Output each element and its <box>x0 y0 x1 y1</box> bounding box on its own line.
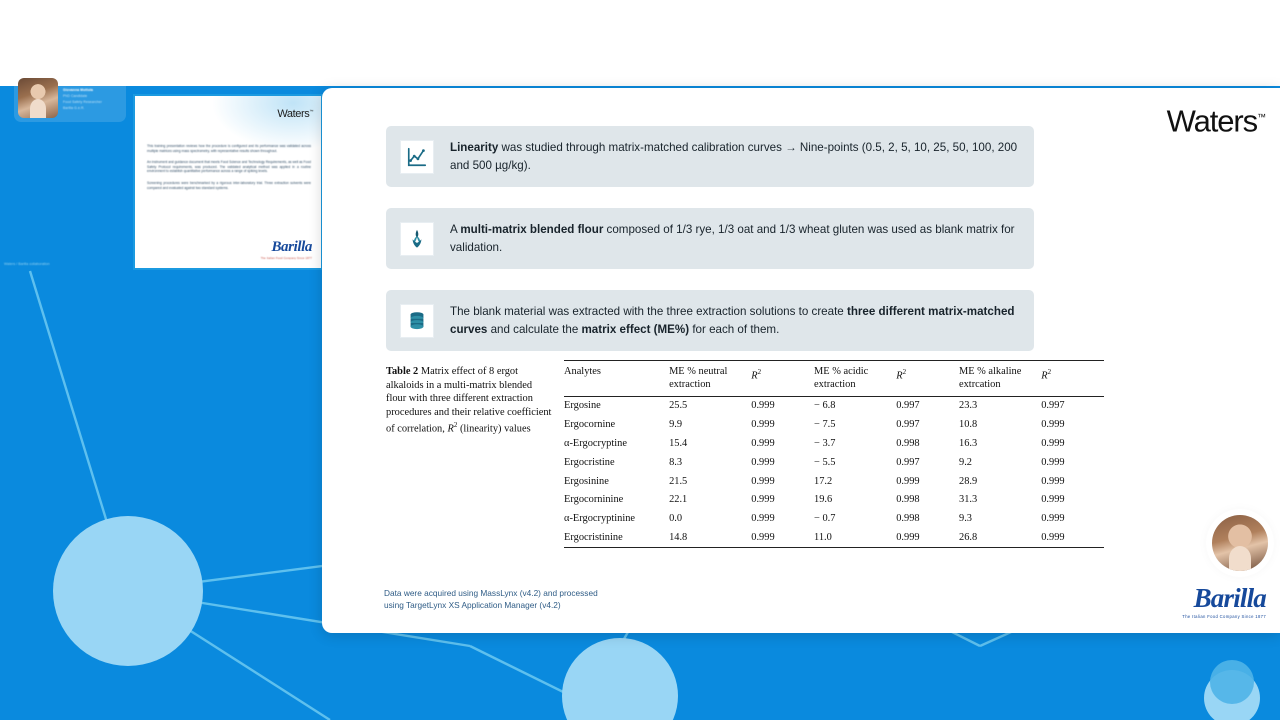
table-cell: α-Ergocryptinine <box>564 510 669 529</box>
table-header-cell: R2 <box>896 361 959 397</box>
table-row: Ergosinine21.50.99917.20.99928.90.999 <box>564 472 1104 491</box>
table-cell: 25.5 <box>669 397 751 416</box>
table-cell: 17.2 <box>814 472 896 491</box>
table-header-cell: R2 <box>751 361 814 397</box>
table-cell: − 7.5 <box>814 416 896 435</box>
table-cell: 0.999 <box>896 528 959 547</box>
table-cell: Ergocristinine <box>564 528 669 547</box>
bullet-item-matrix-effect: The blank material was extracted with th… <box>386 290 1034 351</box>
table-header-cell: ME % alkalineextrcation <box>959 361 1041 397</box>
barilla-logo-name: Barilla <box>1182 585 1266 612</box>
table-cell: 16.3 <box>959 435 1041 454</box>
barilla-logo: Barilla The Italian Food Company Since 1… <box>1182 585 1266 619</box>
table-cell: 0.997 <box>896 416 959 435</box>
table-cell: 31.3 <box>959 491 1041 510</box>
table-caption: Table 2 Matrix effect of 8 ergot alkaloi… <box>386 360 552 548</box>
bullet-text-plain: The blank material was extracted with th… <box>450 305 847 318</box>
line-chart-icon <box>400 140 434 174</box>
waters-logo-tm: ™ <box>1257 112 1266 122</box>
table-cell: 0.999 <box>896 472 959 491</box>
table-cell: 28.9 <box>959 472 1041 491</box>
slide-thumbnail[interactable]: Waters™ This training presentation revie… <box>133 94 323 270</box>
table-row: α-Ergocryptinine0.00.999− 0.70.9989.30.9… <box>564 510 1104 529</box>
bullet-text-plain: A <box>450 223 460 236</box>
table-cell: 0.999 <box>1041 510 1104 529</box>
table-cell: 14.8 <box>669 528 751 547</box>
table-cell: 19.6 <box>814 491 896 510</box>
webinar-screen: Giovanna Mottola PhD Candidate Food Safe… <box>0 0 1280 720</box>
table-cell: 8.3 <box>669 453 751 472</box>
table-row: Ergosine25.50.999− 6.80.99723.30.997 <box>564 397 1104 416</box>
thumbnail-paragraph-2: An instrument and guidance document that… <box>147 160 311 174</box>
presenter-meta: Giovanna Mottola PhD Candidate Food Safe… <box>63 86 102 110</box>
bullet-text-linearity: Linearity was studied through matrix-mat… <box>450 139 1020 174</box>
presenter-card[interactable]: Giovanna Mottola PhD Candidate Food Safe… <box>14 74 126 122</box>
table-cell: 0.998 <box>896 510 959 529</box>
table-cell: 0.998 <box>896 491 959 510</box>
thumbnail-body: This training presentation reviews how t… <box>147 144 311 197</box>
bullet-text-plain: was studied through matrix-matched calib… <box>450 141 1017 172</box>
table-cell: 0.999 <box>751 472 814 491</box>
bullet-text-emphasis: multi-matrix blended flour <box>460 223 603 236</box>
table-cell: 0.999 <box>751 510 814 529</box>
table-cell: 11.0 <box>814 528 896 547</box>
table-cell: 0.999 <box>1041 453 1104 472</box>
bullet-text-matrix-effect: The blank material was extracted with th… <box>450 303 1020 338</box>
table-cell: 0.999 <box>751 453 814 472</box>
table-header-row: AnalytesME % neutralextractionR2ME % aci… <box>564 361 1104 397</box>
presenter-role-1: PhD Candidate <box>63 94 102 98</box>
table-cell: 22.1 <box>669 491 751 510</box>
bullet-item-linearity: Linearity was studied through matrix-mat… <box>386 126 1034 187</box>
table-cell: Ergocornine <box>564 416 669 435</box>
main-slide-card: Waters™ Linearity was studied through ma… <box>322 88 1280 633</box>
thumbnail-paragraph-3: Screening procedures were benchmarked by… <box>147 181 311 190</box>
footnote-line-2: using TargetLynx XS Application Manager … <box>384 600 598 611</box>
thumbnail-waters-logo: Waters™ <box>277 108 313 120</box>
table-cell: 9.3 <box>959 510 1041 529</box>
table-cell: 9.2 <box>959 453 1041 472</box>
corner-note: Waters / Barilla collaboration <box>4 262 50 267</box>
table-header-cell: ME % acidicextraction <box>814 361 896 397</box>
thumbnail-barilla-name: Barilla <box>261 239 312 256</box>
table-row: Ergocristine8.30.999− 5.50.9979.20.999 <box>564 453 1104 472</box>
matrix-effect-table: AnalytesME % neutralextractionR2ME % aci… <box>564 360 1104 548</box>
table-header-cell: Analytes <box>564 361 669 397</box>
bullet-item-blended-flour: A multi-matrix blended flour composed of… <box>386 208 1034 269</box>
table-cell: 0.999 <box>751 416 814 435</box>
table-cell: 0.998 <box>896 435 959 454</box>
table-caption-r-exp: 2 <box>454 421 458 429</box>
table-body: Ergosine25.50.999− 6.80.99723.30.997Ergo… <box>564 397 1104 548</box>
table-row: Ergocristinine14.80.99911.00.99926.80.99… <box>564 528 1104 547</box>
footnote: Data were acquired using MassLynx (v4.2)… <box>384 588 598 611</box>
table-cell: − 3.7 <box>814 435 896 454</box>
waters-logo: Waters™ <box>1167 102 1266 136</box>
table-cell: 0.999 <box>1041 491 1104 510</box>
table-cell: Ergosinine <box>564 472 669 491</box>
presenter-role-2: Food Safety Researcher <box>63 100 102 104</box>
table-cell: − 0.7 <box>814 510 896 529</box>
waters-logo-name: Waters <box>1167 103 1257 138</box>
barilla-logo-tagline: The Italian Food Company Since 1877 <box>1182 614 1266 619</box>
bullet-list: Linearity was studied through matrix-mat… <box>386 126 1034 351</box>
presenter-name: Giovanna Mottola <box>63 88 102 92</box>
table-cell: 0.997 <box>896 453 959 472</box>
table-cell: − 5.5 <box>814 453 896 472</box>
bullet-text-plain: and calculate the <box>487 323 581 336</box>
table-header-cell: ME % neutralextraction <box>669 361 751 397</box>
table-cell: 0.999 <box>751 528 814 547</box>
presenter-role-3: Barilla G.e.R. <box>63 106 102 110</box>
table-cell: 0.997 <box>896 397 959 416</box>
table-cell: Ergocorninine <box>564 491 669 510</box>
table-cell: Ergosine <box>564 397 669 416</box>
thumbnail-barilla-logo: Barilla The Italian Food Company Since 1… <box>261 239 312 260</box>
table-cell: 21.5 <box>669 472 751 491</box>
bullet-text-emphasis: matrix effect (ME%) <box>582 323 690 336</box>
presenter-avatar <box>18 78 58 118</box>
table-cell: 0.999 <box>751 491 814 510</box>
table-row: Ergocornine9.90.999− 7.50.99710.80.999 <box>564 416 1104 435</box>
table-cell: α-Ergocryptine <box>564 435 669 454</box>
table-cell: 0.0 <box>669 510 751 529</box>
table-row: Ergocorninine22.10.99919.60.99831.30.999 <box>564 491 1104 510</box>
table-cell: 0.999 <box>1041 435 1104 454</box>
table-cell: 0.999 <box>751 435 814 454</box>
table-header: AnalytesME % neutralextractionR2ME % aci… <box>564 361 1104 397</box>
table-cell: 26.8 <box>959 528 1041 547</box>
thumbnail-paragraph-1: This training presentation reviews how t… <box>147 144 311 153</box>
presenter-video-avatar[interactable] <box>1212 515 1268 571</box>
wheat-plant-icon <box>400 222 434 256</box>
table-cell: 0.997 <box>1041 397 1104 416</box>
table-cell: 9.9 <box>669 416 751 435</box>
table-cell: 0.999 <box>1041 528 1104 547</box>
table-caption-label: Table 2 <box>386 366 418 377</box>
table-cell: 15.4 <box>669 435 751 454</box>
table-cell: 23.3 <box>959 397 1041 416</box>
table-cell: − 6.8 <box>814 397 896 416</box>
table-header-cell: R2 <box>1041 361 1104 397</box>
thumbnail-waters-name: Waters <box>277 108 309 120</box>
table-cell: 0.999 <box>1041 472 1104 491</box>
table-row: α-Ergocryptine15.40.999− 3.70.99816.30.9… <box>564 435 1104 454</box>
bullet-text-blended-flour: A multi-matrix blended flour composed of… <box>450 221 1020 256</box>
bullet-text-emphasis: Linearity <box>450 141 498 154</box>
table-cell: Ergocristine <box>564 453 669 472</box>
table-cell: 0.999 <box>751 397 814 416</box>
table-caption-tail: (linearity) values <box>460 424 531 435</box>
matrix-effect-table-block: Table 2 Matrix effect of 8 ergot alkaloi… <box>386 360 1110 548</box>
database-icon <box>400 304 434 338</box>
footnote-line-1: Data were acquired using MassLynx (v4.2)… <box>384 588 598 599</box>
table-cell: 0.999 <box>1041 416 1104 435</box>
thumbnail-barilla-tagline: The Italian Food Company Since 1877 <box>261 257 312 260</box>
table-cell: 10.8 <box>959 416 1041 435</box>
bullet-text-plain: for each of them. <box>689 323 779 336</box>
